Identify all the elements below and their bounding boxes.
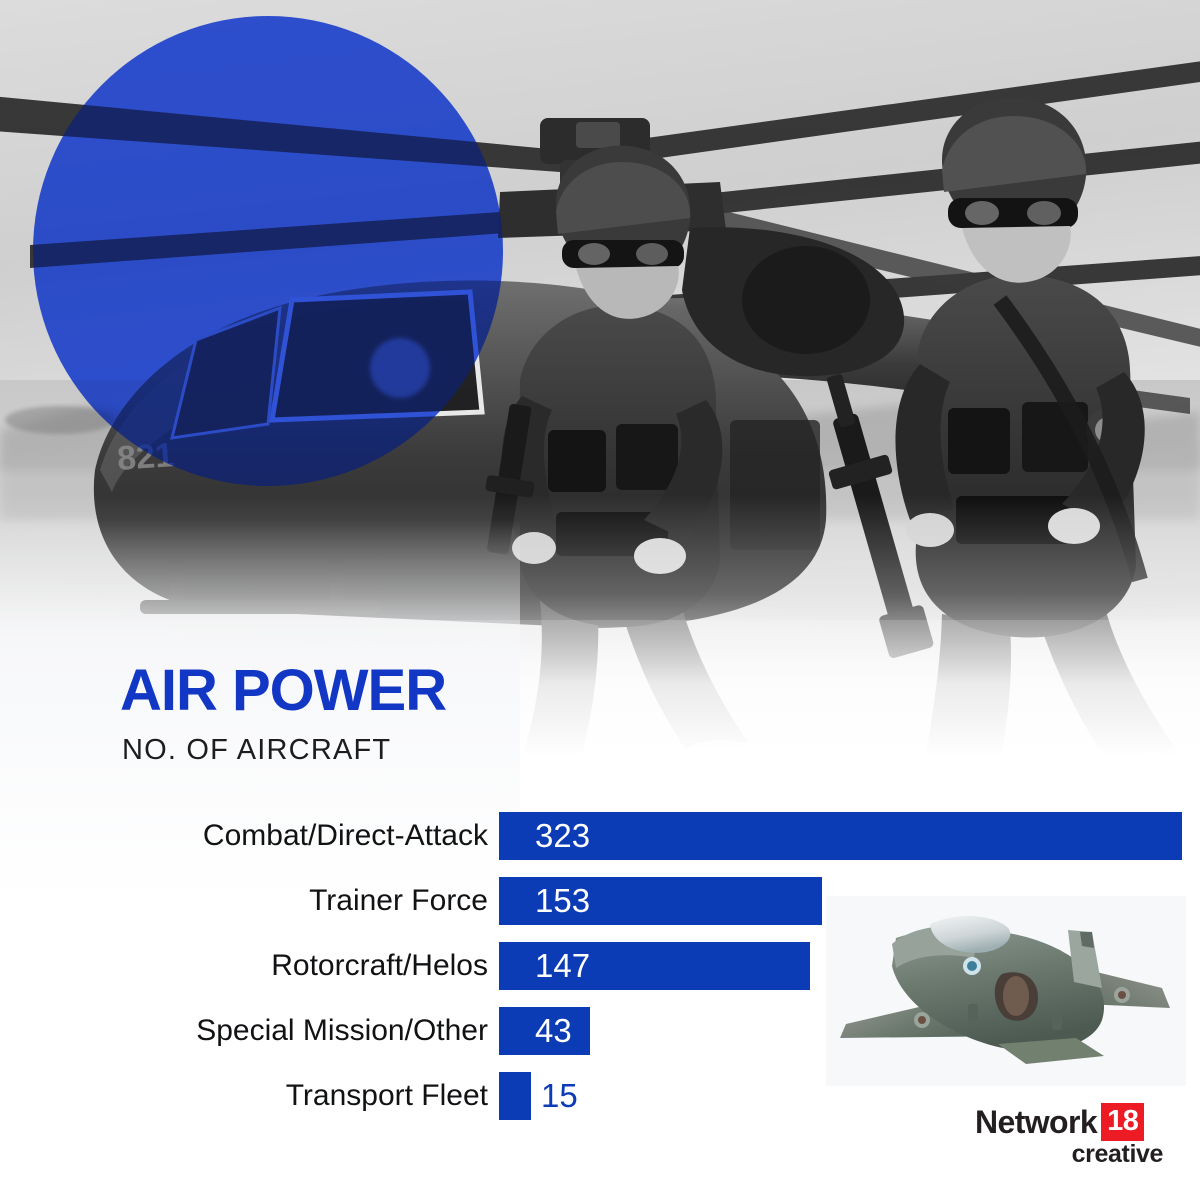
logo-top-row: Network 18 bbox=[975, 1104, 1165, 1140]
air-power-infographic: 821 bbox=[0, 0, 1200, 1200]
bar-value-label: 43 bbox=[535, 1007, 572, 1055]
bar-category-label: Combat/Direct-Attack bbox=[203, 812, 488, 860]
title-block: AIR POWER NO. OF AIRCRAFT bbox=[120, 662, 446, 767]
bar-value-label: 153 bbox=[535, 877, 590, 925]
aircraft-bar-chart: Combat/Direct-Attack 323 Trainer Force 1… bbox=[0, 812, 1200, 1137]
chart-row: Trainer Force 153 bbox=[0, 877, 1200, 942]
bar-track: 153 bbox=[499, 877, 822, 925]
chart-row: Combat/Direct-Attack 323 bbox=[0, 812, 1200, 877]
bar-special-mission-other[interactable]: 43 bbox=[499, 1007, 590, 1055]
bar-track: 147 bbox=[499, 942, 810, 990]
bar-category-label: Special Mission/Other bbox=[196, 1007, 488, 1055]
bar-rotorcraft-helos[interactable]: 147 bbox=[499, 942, 810, 990]
bar-value-label: 15 bbox=[541, 1072, 578, 1120]
bar-category-label: Trainer Force bbox=[309, 877, 488, 925]
chart-row: Special Mission/Other 43 bbox=[0, 1007, 1200, 1072]
bar-category-label: Transport Fleet bbox=[286, 1072, 488, 1120]
logo-wordmark: Network bbox=[975, 1106, 1097, 1138]
bar-track: 323 bbox=[499, 812, 1182, 860]
chart-row: Rotorcraft/Helos 147 bbox=[0, 942, 1200, 1007]
bar-transport-fleet[interactable]: 15 bbox=[499, 1072, 531, 1120]
svg-text:821: 821 bbox=[116, 436, 175, 478]
bar-track: 15 bbox=[499, 1072, 531, 1120]
logo-tagline: creative bbox=[975, 1141, 1165, 1167]
page-title: AIR POWER bbox=[120, 662, 446, 720]
bar-value-label: 147 bbox=[535, 942, 590, 990]
page-subtitle: NO. OF AIRCRAFT bbox=[122, 734, 446, 767]
logo-18-badge: 18 bbox=[1101, 1103, 1144, 1141]
bar-trainer-force[interactable]: 153 bbox=[499, 877, 822, 925]
bar-category-label: Rotorcraft/Helos bbox=[271, 942, 488, 990]
network18-creative-logo: Network 18 creative bbox=[975, 1104, 1165, 1167]
bar-track: 43 bbox=[499, 1007, 590, 1055]
bar-combat-direct-attack[interactable]: 323 bbox=[499, 812, 1182, 860]
bar-value-label: 323 bbox=[535, 812, 590, 860]
